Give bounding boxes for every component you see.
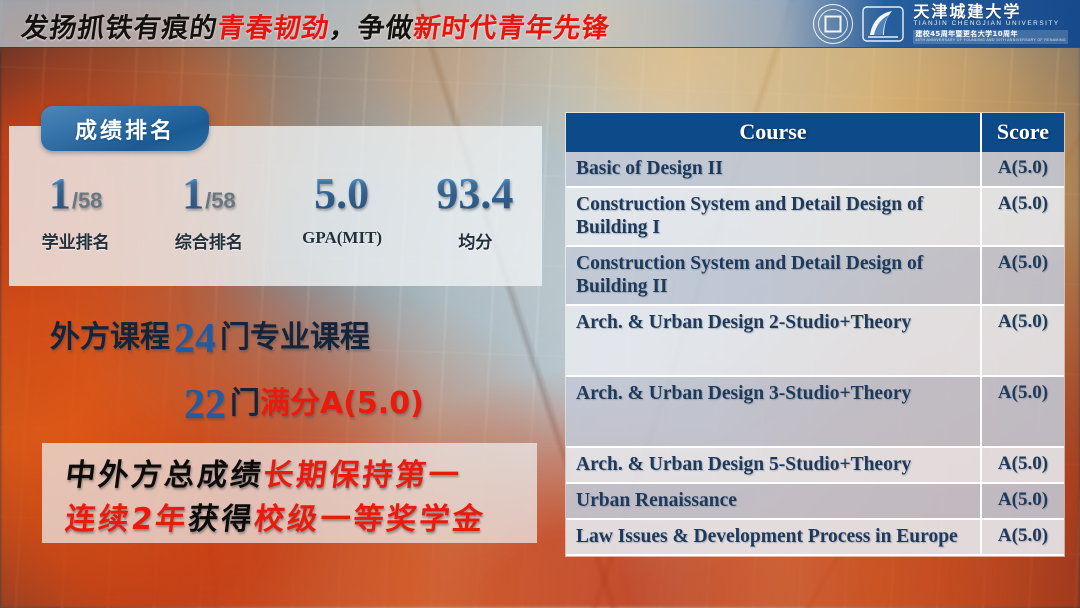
logo-group: 天津城建大学 TIANJIN CHENGJIAN UNIVERSITY 建校45… (813, 4, 1068, 44)
stats-row: 1 /58 学业排名 1 /58 综合排名 5.0 GPA(MIT) 93.4 (9, 172, 542, 262)
full-marks-line: 22门满分A(5.0) (180, 378, 424, 429)
university-name-cn: 天津城建大学 (913, 4, 1068, 20)
cell-course: Arch. & Urban Design 3-Studio+Theory (566, 376, 981, 447)
university-wordmark: 天津城建大学 TIANJIN CHENGJIAN UNIVERSITY 建校45… (913, 4, 1068, 43)
achievement-line-1-black: 中外方总成绩 (63, 458, 265, 493)
full-marks-unit: 门 (230, 386, 260, 421)
table-row: Urban Renaissance A(5.0) (566, 483, 1064, 519)
banner-slogan-part4: 新时代青年先锋 (411, 13, 611, 44)
ranking-panel-badge: 成绩排名 (41, 106, 209, 151)
achievement-line-2: 连续2年获得校级一等奖学金 (63, 494, 488, 538)
achievement-line-2-black: 获得 (186, 502, 256, 537)
stat-denominator: /58 (205, 190, 236, 212)
full-marks-count: 22 (180, 382, 230, 428)
table-header-score: Score (981, 113, 1064, 152)
cell-score: A(5.0) (981, 376, 1064, 447)
full-marks-grade: 满分A(5.0) (260, 386, 424, 421)
stat-gpa: 5.0 GPA(MIT) (276, 172, 409, 262)
stat-value: 1 (49, 172, 71, 216)
top-banner: 发扬抓铁有痕的青春韧劲，争做新时代青年先锋 天津城建大学 TIANJIN CHE… (0, 0, 1080, 48)
cell-course: Construction System and Detail Design of… (566, 187, 981, 246)
stat-denominator: /58 (72, 190, 103, 212)
stat-caption: GPA(MIT) (302, 228, 382, 248)
stat-value: 1 (182, 172, 204, 216)
table-row: Basic of Design II A(5.0) (566, 152, 1064, 187)
stat-value-group: 1 /58 (182, 172, 236, 216)
banner-slogan-part3: ，争做 (327, 13, 415, 44)
banner-underline (0, 47, 1080, 48)
stat-caption: 均分 (458, 228, 492, 253)
achievement-line-1-red: 长期保持第一 (261, 458, 463, 493)
stat-value: 5.0 (314, 172, 369, 216)
cell-course: Arch. & Urban Design 2-Studio+Theory (566, 305, 981, 376)
achievement-line-2-red-a: 连续2年 (63, 502, 190, 537)
cell-course: Urban Renaissance (566, 483, 981, 519)
table-row: Arch. & Urban Design 2-Studio+Theory A(5… (566, 305, 1064, 376)
stat-caption: 综合排名 (175, 228, 243, 253)
cell-score: A(5.0) (981, 246, 1064, 305)
table-body: Basic of Design II A(5.0) Construction S… (566, 152, 1064, 555)
table-header-course: Course (566, 113, 981, 152)
sail-emblem-icon (861, 5, 905, 43)
cell-score: A(5.0) (981, 187, 1064, 246)
table-row: Construction System and Detail Design of… (566, 187, 1064, 246)
banner-slogan-part2: 青春韧劲 (215, 13, 331, 44)
table-header-row: Course Score (566, 113, 1064, 152)
stat-average-score: 93.4 均分 (409, 172, 542, 262)
foreign-courses-prefix: 外方课程 (50, 320, 170, 355)
ranking-panel-badge-label: 成绩排名 (75, 113, 175, 145)
table-row: Arch. & Urban Design 3-Studio+Theory A(5… (566, 376, 1064, 447)
stat-caption: 学业排名 (42, 228, 110, 253)
cell-score: A(5.0) (981, 152, 1064, 187)
cell-score: A(5.0) (981, 305, 1064, 376)
anniversary-badge: 建校45周年暨更名大学10周年 45TH ANNIVERSARY OF FOUN… (913, 30, 1068, 44)
cell-course: Law Issues & Development Process in Euro… (566, 519, 981, 555)
cell-score: A(5.0) (981, 447, 1064, 483)
university-seal-icon (813, 4, 853, 44)
banner-slogan-part1: 发扬抓铁有痕的 (19, 13, 219, 44)
anniversary-en: 45TH ANNIVERSARY OF FOUNDING AND 10TH AN… (915, 39, 1066, 43)
cell-score: A(5.0) (981, 483, 1064, 519)
foreign-courses-count: 24 (170, 316, 220, 362)
stat-value-group: 93.4 (436, 172, 514, 216)
banner-slogan: 发扬抓铁有痕的青春韧劲，争做新时代青年先锋 (19, 6, 612, 45)
foreign-courses-suffix: 门专业课程 (220, 320, 370, 355)
cell-course: Construction System and Detail Design of… (566, 246, 981, 305)
stat-overall-rank: 1 /58 综合排名 (142, 172, 275, 262)
table-row: Law Issues & Development Process in Euro… (566, 519, 1064, 555)
achievement-line-2-red-b: 校级一等奖学金 (252, 502, 487, 537)
university-name-en: TIANJIN CHENGJIAN UNIVERSITY (913, 21, 1068, 27)
table-row: Construction System and Detail Design of… (566, 246, 1064, 305)
cell-course: Basic of Design II (566, 152, 981, 187)
stat-value: 93.4 (436, 172, 513, 216)
stat-value-group: 5.0 (314, 172, 370, 216)
foreign-courses-line: 外方课程24门专业课程 (50, 312, 370, 363)
cell-score: A(5.0) (981, 519, 1064, 555)
achievement-line-1: 中外方总成绩长期保持第一 (63, 450, 464, 494)
table-row: Arch. & Urban Design 5-Studio+Theory A(5… (566, 447, 1064, 483)
stat-academic-rank: 1 /58 学业排名 (9, 172, 142, 262)
stat-value-group: 1 /58 (49, 172, 103, 216)
cell-course: Arch. & Urban Design 5-Studio+Theory (566, 447, 981, 483)
course-score-table: Course Score Basic of Design II A(5.0) C… (566, 113, 1064, 556)
slide-root: 发扬抓铁有痕的青春韧劲，争做新时代青年先锋 天津城建大学 TIANJIN CHE… (0, 0, 1080, 608)
